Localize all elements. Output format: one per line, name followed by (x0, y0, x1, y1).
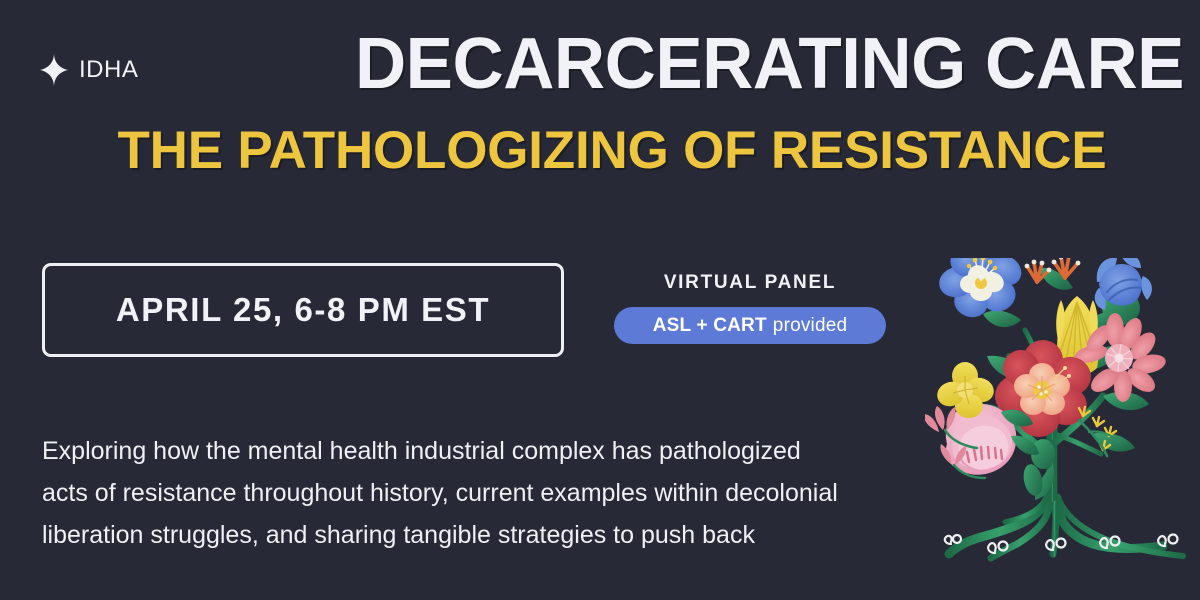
page-subtitle: THE PATHOLOGIZING OF RESISTANCE (40, 122, 1184, 180)
accessibility-badge-rest: provided (773, 315, 847, 337)
virtual-panel-block: VIRTUAL PANEL ASL + CART provided (614, 272, 886, 344)
description-line: liberation struggles, and sharing tangib… (42, 514, 912, 556)
accessibility-badge: ASL + CART provided (614, 307, 886, 344)
brand-logo: IDHA (40, 48, 138, 92)
page-title: DECARCERATING CARE (183, 25, 1184, 103)
event-date-box: APRIL 25, 6-8 PM EST (42, 263, 564, 357)
accessibility-badge-strong: ASL + CART (653, 315, 767, 337)
description-line: acts of resistance throughout history, c… (42, 472, 912, 514)
description-line: Exploring how the mental health industri… (42, 430, 912, 472)
event-banner: IDHA DECARCERATING CARE THE PATHOLOGIZIN… (0, 0, 1200, 600)
brand-name: IDHA (79, 58, 138, 82)
diamond-star-icon (40, 53, 68, 87)
event-date-text: APRIL 25, 6-8 PM EST (116, 291, 490, 329)
virtual-panel-label: VIRTUAL PANEL (664, 272, 836, 294)
event-description: Exploring how the mental health industri… (42, 430, 912, 556)
